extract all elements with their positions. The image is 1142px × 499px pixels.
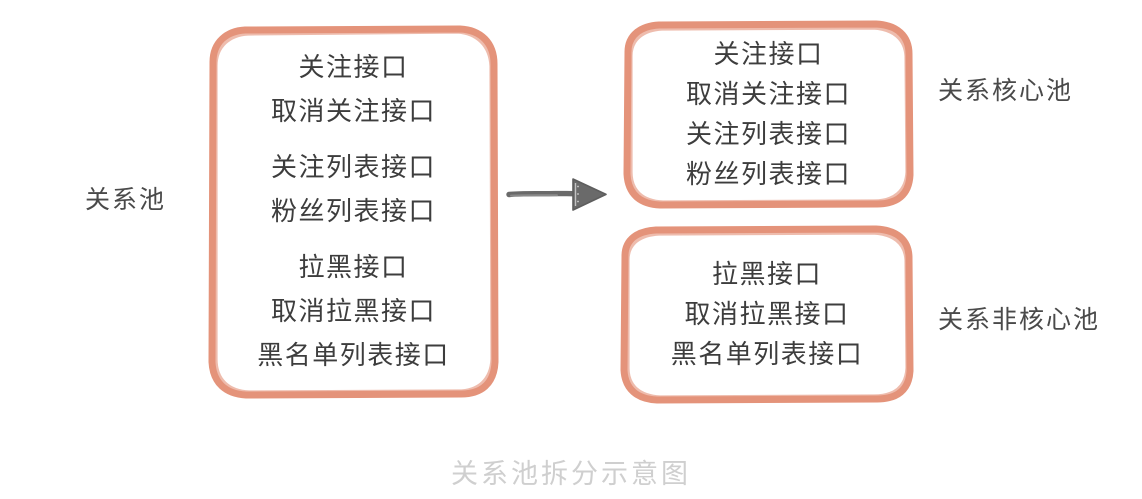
source-pool-box: 关注接口 取消关注接口 关注列表接口 粉丝列表接口 拉黑接口 取消拉黑接口 黑名… <box>211 28 496 396</box>
noncore-pool-box: 拉黑接口 取消拉黑接口 黑名单列表接口 <box>623 229 911 400</box>
core-pool-label: 关系核心池 <box>938 71 1073 107</box>
list-item: 黑名单列表接口 <box>257 343 450 369</box>
list-item: 取消关注接口 <box>271 99 436 125</box>
list-item: 粉丝列表接口 <box>271 199 436 225</box>
noncore-pool-label: 关系非核心池 <box>938 300 1100 336</box>
source-pool-label: 关系池 <box>85 180 166 216</box>
diagram-caption: 关系池拆分示意图 <box>0 452 1142 491</box>
list-item: 关注列表接口 <box>271 155 436 181</box>
list-item: 拉黑接口 <box>712 262 822 288</box>
source-group-core-2: 关注列表接口 粉丝列表接口 <box>271 155 436 225</box>
list-item: 粉丝列表接口 <box>686 162 851 188</box>
source-pool-content: 关注接口 取消关注接口 关注列表接口 粉丝列表接口 拉黑接口 取消拉黑接口 黑名… <box>211 28 496 396</box>
list-item: 关注接口 <box>713 42 823 68</box>
source-group-core: 关注接口 取消关注接口 <box>271 55 436 125</box>
list-item: 取消拉黑接口 <box>684 302 849 328</box>
noncore-pool-content: 拉黑接口 取消拉黑接口 黑名单列表接口 <box>623 229 911 400</box>
split-arrow-icon <box>505 168 615 220</box>
core-pool-content: 关注接口 取消关注接口 关注列表接口 粉丝列表接口 <box>626 24 911 205</box>
list-item: 拉黑接口 <box>298 255 408 281</box>
list-item: 取消拉黑接口 <box>271 299 436 325</box>
list-item: 关注接口 <box>298 55 408 81</box>
core-pool-box: 关注接口 取消关注接口 关注列表接口 粉丝列表接口 <box>626 24 911 205</box>
list-item: 取消关注接口 <box>686 82 851 108</box>
list-item: 黑名单列表接口 <box>671 342 864 368</box>
list-item: 关注列表接口 <box>686 122 851 148</box>
source-group-noncore: 拉黑接口 取消拉黑接口 黑名单列表接口 <box>257 255 450 369</box>
diagram-canvas: 关系池 关注接口 取消关注接口 关注列表接口 粉丝列表接口 拉黑接口 取消拉黑接… <box>0 0 1142 499</box>
